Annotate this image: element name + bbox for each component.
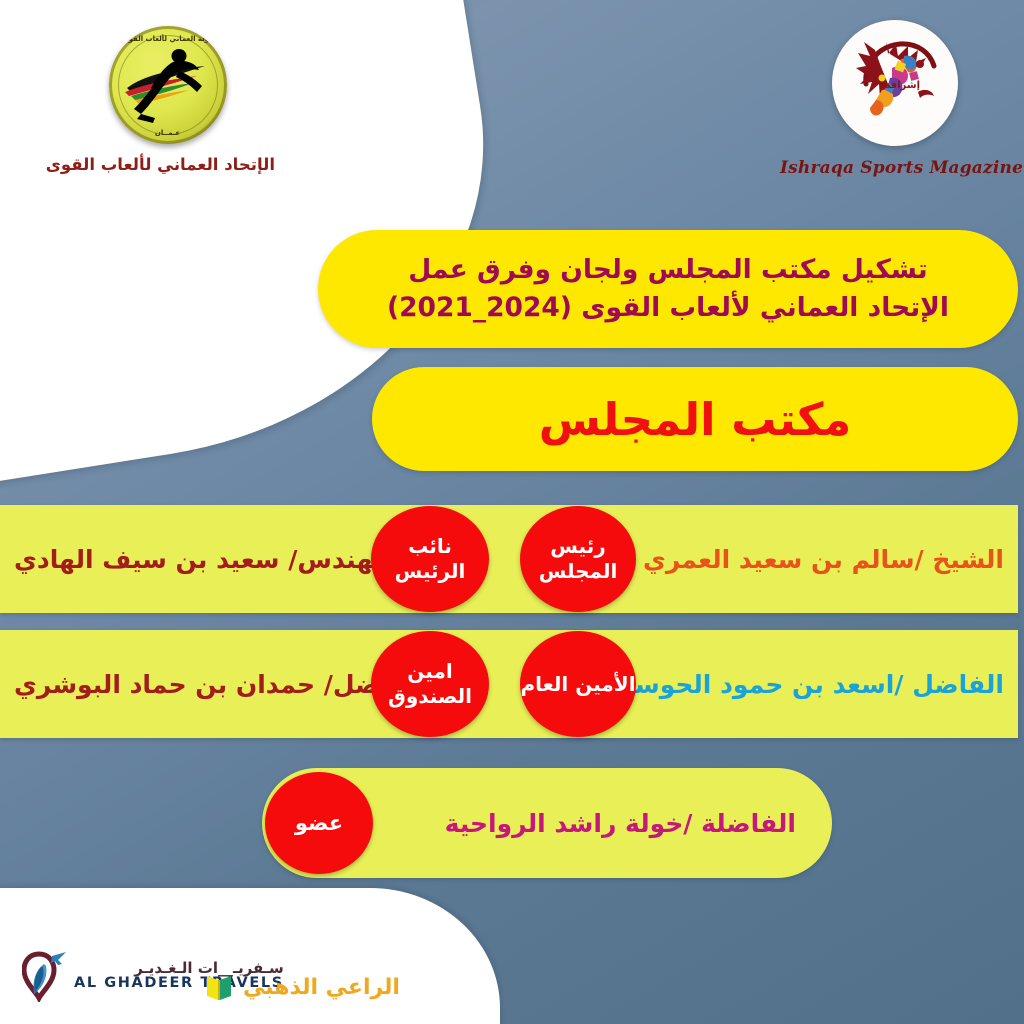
member-row: الفاضل /اسعد بن حمود الحوسني الفاضل/ حمد…: [0, 630, 1018, 738]
role-badge-vice-chairman[interactable]: نائب الرئيس: [371, 506, 489, 612]
decorative-white-nub: [300, 150, 320, 168]
title-text: تشكيل مكتب المجلس ولجان وفرق عمل الإتحاد…: [387, 251, 949, 326]
section-heading-banner: مكتب المجلس: [372, 367, 1018, 471]
title-line-1: تشكيل مكتب المجلس ولجان وفرق عمل: [387, 251, 949, 289]
ishraqa-sports-magazine-emblem-icon: إشراقة: [832, 20, 958, 146]
role-badge-secretary-general[interactable]: الأمين العام: [520, 631, 636, 737]
member-row: الشيخ /سالم بن سعيد العمري المهندس/ سعيد…: [0, 505, 1018, 613]
magazine-name-label: Ishraqa Sports Magazine: [780, 158, 1010, 178]
section-heading-text: مكتب المجلس: [539, 393, 852, 446]
member-name: الفاضل /اسعد بن حمود الحوسني: [600, 630, 1004, 738]
oman-athletics-federation-emblem-icon: دولة العماني لألعاب القوى عـمــان: [109, 26, 227, 144]
decorative-white-nub: [268, 236, 302, 262]
title-line-2: الإتحاد العماني لألعاب القوى (2024_2021): [387, 289, 949, 327]
member-name: الفاضل/ حمدان بن حماد البوشري: [14, 630, 425, 738]
role-badge-treasurer[interactable]: امين الصندوق: [371, 631, 489, 737]
gold-sponsor-block: الراعي الذهبي: [205, 972, 400, 1002]
svg-text:إشراقة: إشراقة: [884, 80, 920, 91]
member-name: الشيخ /سالم بن سعيد العمري: [643, 505, 1004, 613]
title-banner: تشكيل مكتب المجلس ولجان وفرق عمل الإتحاد…: [318, 230, 1018, 348]
open-book-icon: [205, 972, 233, 1002]
federation-logo: دولة العماني لألعاب القوى عـمــان الإتحا…: [60, 26, 275, 174]
member-name: الفاضلة /خولة راشد الرواحية: [445, 768, 796, 878]
poster-canvas: دولة العماني لألعاب القوى عـمــان الإتحا…: [0, 0, 1024, 1024]
magazine-logo: إشراقة Ishraqa Sports Magazine: [780, 20, 1010, 178]
magazine-emblem-artwork: إشراقة: [832, 20, 958, 146]
gold-sponsor-label: الراعي الذهبي: [243, 975, 400, 1000]
emblem-bottom-text: عـمــان: [155, 129, 180, 137]
federation-name-label: الإتحاد العماني لألعاب القوى: [60, 155, 275, 174]
role-badge-chairman[interactable]: رئيس المجلس: [520, 506, 636, 612]
runner-silhouette-icon: [109, 26, 227, 144]
decorative-white-nub: [292, 196, 318, 218]
role-badge-member[interactable]: عضو: [265, 772, 373, 874]
location-pin-airplane-icon: [22, 950, 68, 1002]
member-name: المهندس/ سعيد بن سيف الهادي: [14, 505, 408, 613]
